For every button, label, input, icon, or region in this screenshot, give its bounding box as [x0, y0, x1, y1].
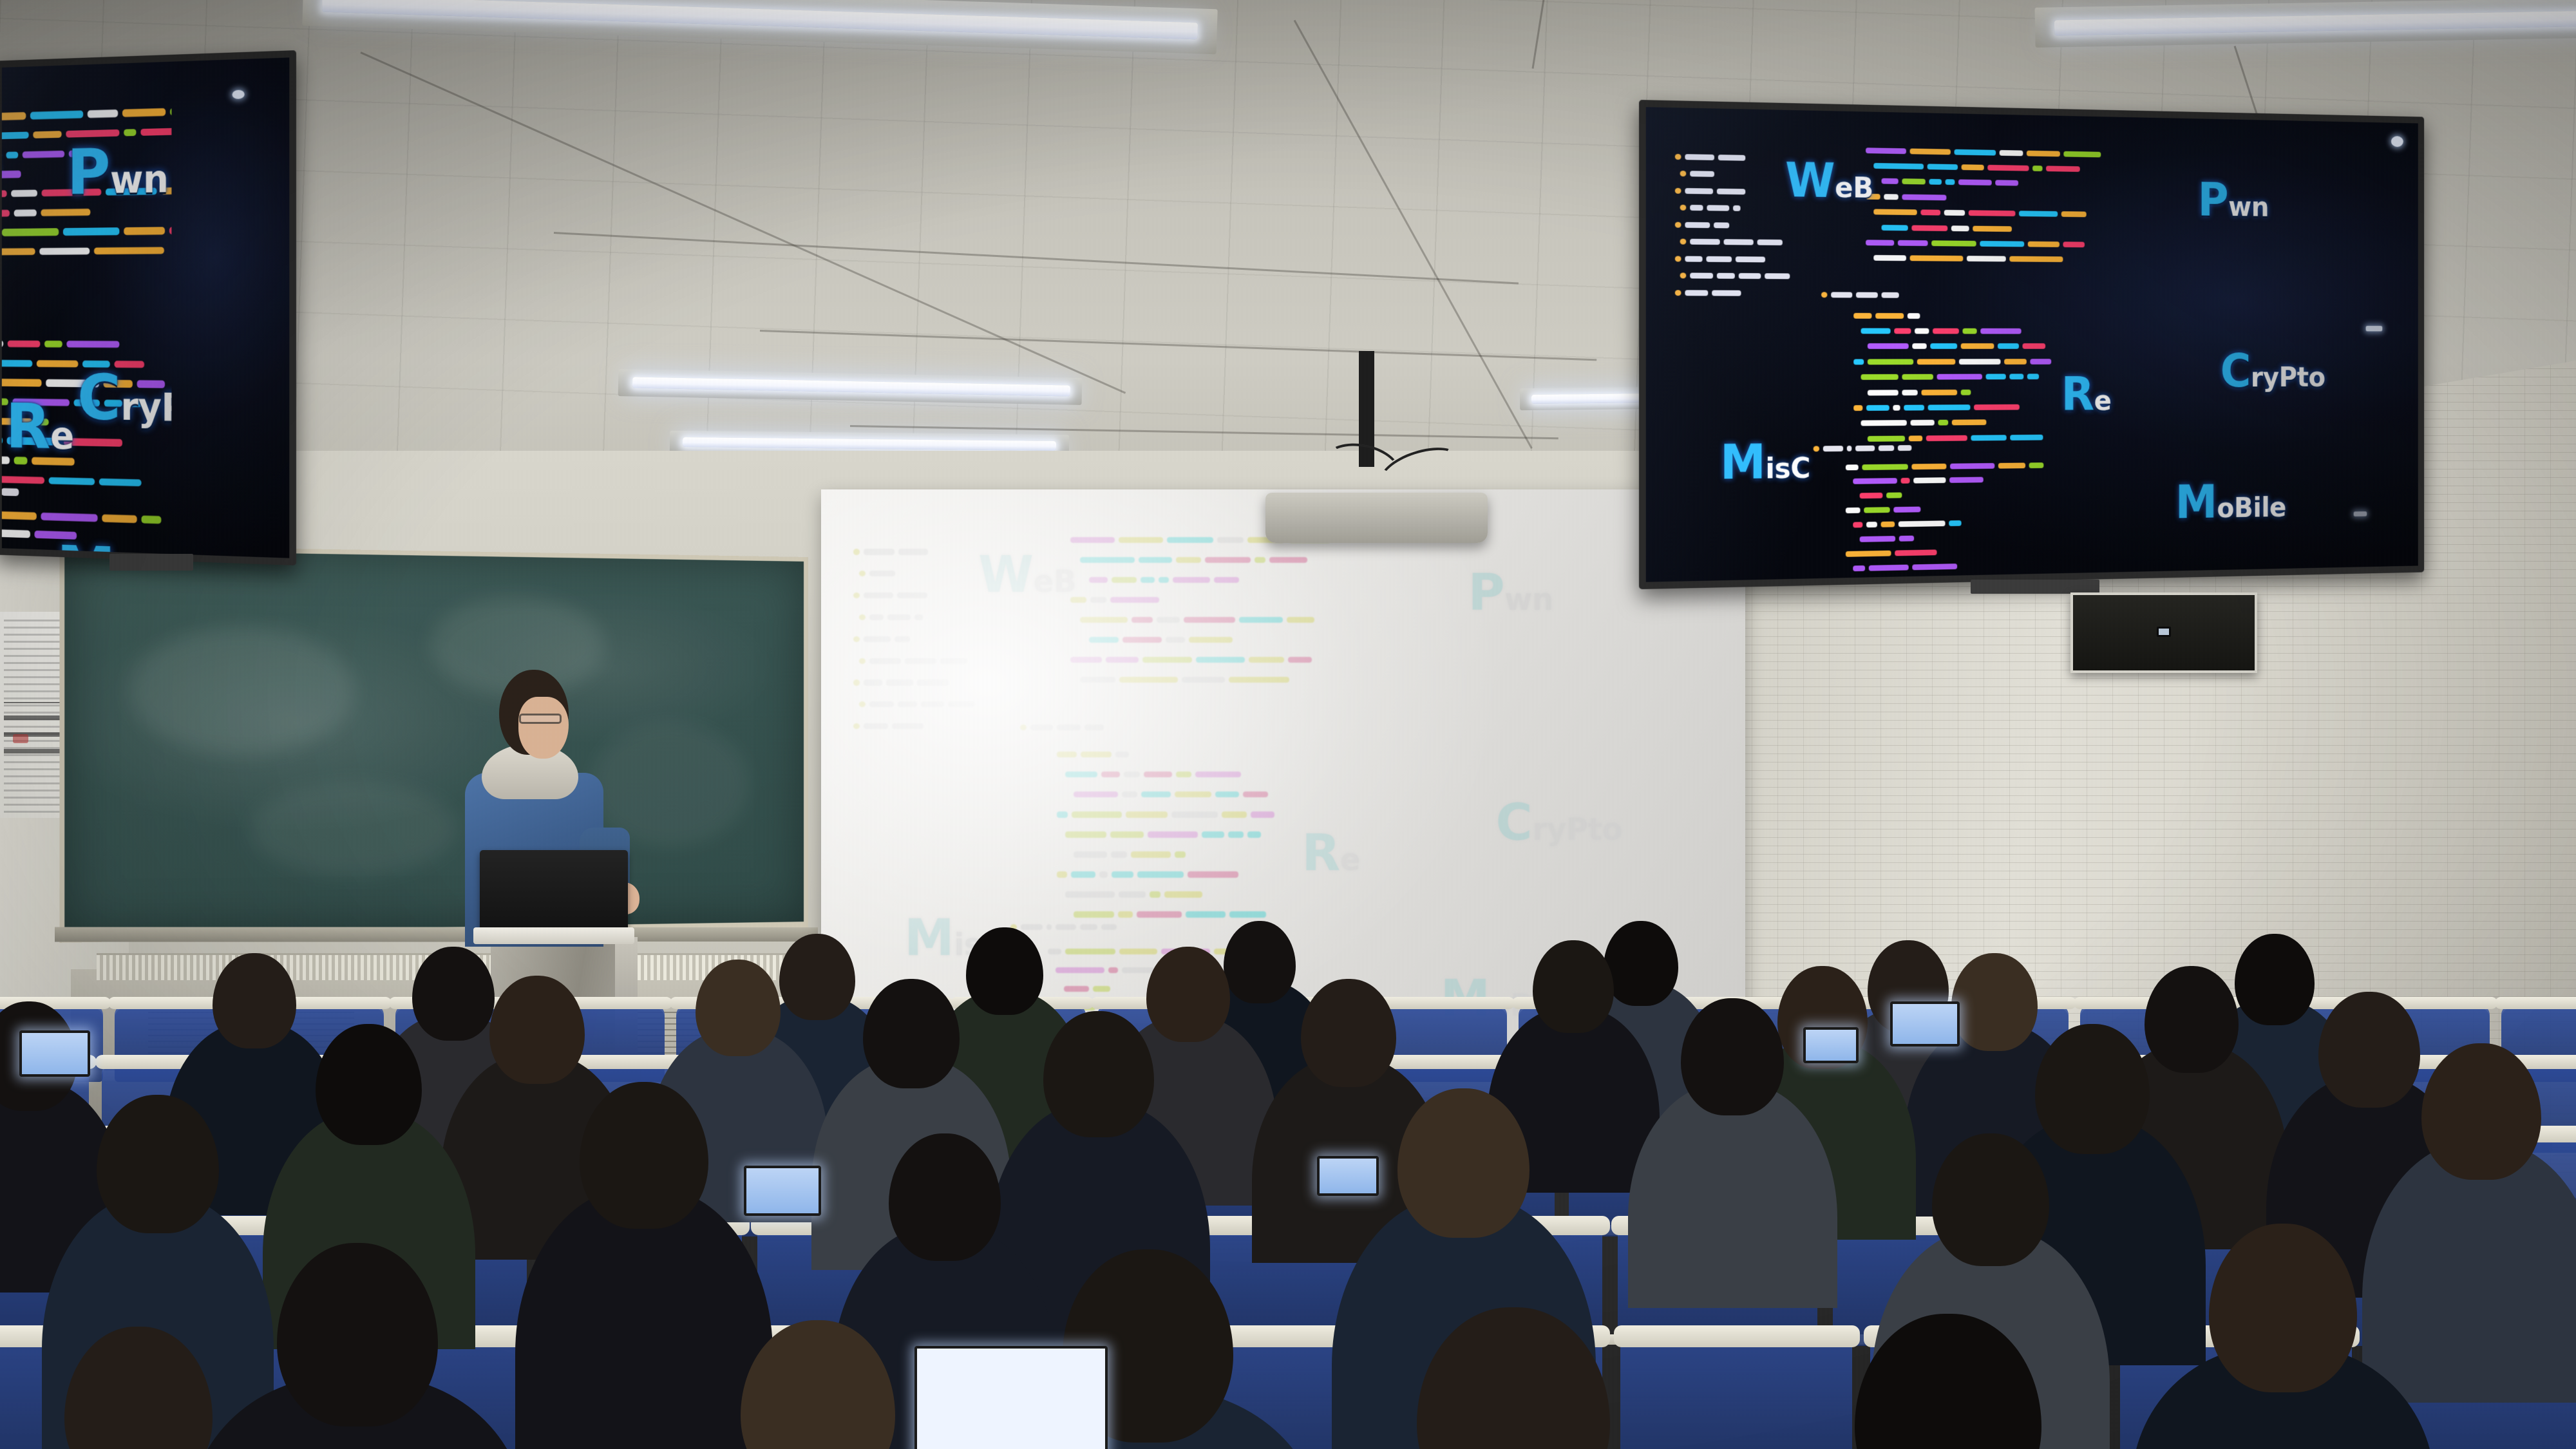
- slide-code-token: [1847, 446, 1852, 451]
- slide-code-token: [2027, 150, 2060, 156]
- slide-code-token: [1080, 557, 1135, 563]
- chalk-smudge: [250, 782, 457, 877]
- slide-code-line: [1853, 520, 1962, 529]
- slide-code-token: [917, 679, 948, 685]
- slide-code-token: [1950, 463, 1994, 469]
- slide-code-line: [1853, 477, 1984, 486]
- audience-head: [966, 927, 1043, 1015]
- slide-code-token: [170, 107, 171, 115]
- slide-code-token: [1084, 724, 1104, 730]
- slide-code-token: [2031, 359, 2052, 365]
- slide-code-token: [1757, 240, 1782, 245]
- audience-head: [1043, 1011, 1154, 1137]
- slide-code-token: [1132, 617, 1153, 623]
- slide-code-token: [1065, 831, 1106, 837]
- slide-code-token: [859, 701, 866, 707]
- audience-head: [580, 1082, 708, 1229]
- slide-code-token: [905, 658, 936, 664]
- slide-code-token: [1893, 405, 1900, 411]
- slide-code-token: [1866, 405, 1889, 411]
- slide-code-token: [1962, 328, 1976, 334]
- slide-code-token: [1889, 578, 1933, 582]
- slide-code-token: [1895, 549, 1937, 556]
- slide-code-token: [1866, 240, 1894, 245]
- slide-tv-left: WeBPwnReCryPtoMisCMoBile: [2, 62, 171, 558]
- audience-head: [277, 1243, 438, 1426]
- slide-code-line: [2, 105, 171, 123]
- slide-code-token: [1119, 537, 1163, 543]
- slide-code-line: [1881, 223, 2012, 232]
- slide-code-line: [1057, 810, 1274, 819]
- slide-code-token: [1690, 273, 1713, 279]
- slide-code-token: [1070, 537, 1115, 543]
- presenter-laptop[interactable]: [480, 850, 628, 934]
- slide-code-line: [1680, 204, 1740, 213]
- slide-code-token: [1119, 891, 1145, 897]
- slide-code-token: [1287, 617, 1314, 623]
- slide-code-token: [1898, 240, 1928, 246]
- slide-code-token: [1131, 851, 1171, 857]
- slide-code-line: [1853, 312, 1920, 319]
- slide-code-token: [1927, 164, 1958, 170]
- slide-code-token: [1217, 537, 1244, 543]
- slide-code-token: [1159, 577, 1169, 583]
- slide-code-token: [1215, 791, 1239, 797]
- slide-code-token: [1144, 772, 1172, 777]
- slide-category-re: Re: [6, 396, 74, 459]
- slide-code-token: [1912, 343, 1926, 349]
- slide-code-token: [1995, 180, 2018, 186]
- slide-code-token: [1718, 155, 1746, 161]
- slide-code-token: [1108, 967, 1118, 973]
- slide-code-token: [1938, 420, 1948, 426]
- slide-code-line: [1074, 909, 1266, 919]
- slide-code-token: [11, 189, 37, 197]
- slide-code-token: [1675, 290, 1681, 296]
- seat-armrest: [2495, 997, 2576, 1009]
- slide-code-token: [869, 614, 884, 620]
- slide-code-token: [1853, 478, 1898, 485]
- slide-code-token: [1188, 871, 1238, 877]
- slide-code-token: [44, 341, 62, 348]
- slide-code-token: [887, 614, 911, 620]
- slide-code-token: [1065, 949, 1115, 954]
- slide-code-line: [1868, 343, 2045, 350]
- slide-category-re: Re: [1302, 828, 1360, 878]
- slide-code-token: [1099, 871, 1107, 877]
- slide-code-token: [1902, 374, 1933, 380]
- slide-code-line: [1675, 153, 1746, 162]
- slide-code-token: [864, 592, 893, 598]
- slide-code-token: [1148, 831, 1198, 837]
- slide-code-token: [1846, 507, 1861, 513]
- slide-code-token: [1202, 831, 1224, 837]
- slide-code-token: [1958, 180, 1992, 186]
- slide-code-token: [2019, 211, 2058, 216]
- slide-code-token: [1962, 164, 1984, 170]
- slide-code-line: [1814, 444, 1912, 453]
- slide-code-line: [1860, 535, 1914, 543]
- slide-code-token: [859, 571, 866, 576]
- slide-code-line: [1853, 562, 1957, 572]
- slide-code-token: [124, 129, 137, 137]
- slide-code-token: [1853, 405, 1862, 411]
- slide-code-token: [1112, 577, 1137, 583]
- slide-code-token: [1881, 178, 1899, 184]
- slide-code-token: [1949, 520, 1961, 526]
- slide-code-token: [1902, 179, 1925, 185]
- slide-code-line: [1821, 290, 1899, 298]
- slide-code-token: [1879, 445, 1894, 451]
- slide-code-token: [1122, 791, 1138, 797]
- slide-code-token: [1205, 557, 1251, 563]
- slide-code-token: [1823, 446, 1843, 451]
- chalkboard: [59, 545, 808, 943]
- slide-code-token: [1164, 891, 1202, 897]
- audience-head: [2145, 966, 2239, 1073]
- audience-head: [1951, 953, 2038, 1051]
- slide-code-token: [1247, 831, 1260, 837]
- slide-code-token: [1961, 343, 1994, 349]
- slide-code-line: [1680, 272, 1790, 280]
- slide-code-token: [1141, 791, 1171, 797]
- slide-code-token: [1081, 752, 1112, 757]
- slide-code-token: [1945, 180, 1955, 185]
- slide-code-token: [1961, 389, 1971, 395]
- slide-code-token: [1101, 772, 1120, 777]
- seat-armrest: [1614, 1325, 1860, 1347]
- slide-code-token: [2029, 462, 2044, 468]
- audience-tablet-screen[interactable]: [1890, 1001, 1960, 1046]
- slide-code-line: [2, 484, 19, 497]
- slide-code-token: [1986, 374, 2006, 380]
- slide-code-token: [869, 701, 894, 707]
- slide-code-line: [1846, 506, 1921, 514]
- slide-code-line: [1675, 255, 1765, 263]
- slide-code-token: [853, 723, 860, 729]
- slide-code-token: [1974, 404, 2020, 410]
- slide-code-token: [1881, 292, 1899, 298]
- slide-code-token: [2, 529, 30, 538]
- slide-code-token: [1115, 752, 1129, 757]
- slide-code-token: [88, 109, 118, 118]
- category-suffix: wn: [2228, 191, 2269, 223]
- slide-code-line: [1866, 193, 1947, 201]
- category-initial: P: [2198, 174, 2229, 227]
- slide-code-line: [1057, 750, 1129, 759]
- slide-code-token: [1707, 205, 1730, 211]
- slide-code-token: [1110, 831, 1144, 837]
- slide-code-token: [1111, 851, 1128, 857]
- slide-code-token: [1855, 446, 1875, 451]
- audience-head: [2318, 992, 2420, 1108]
- slide-code-token: [1090, 597, 1106, 603]
- slide-code-token: [1886, 493, 1902, 498]
- slide-code-line: [1074, 849, 1186, 859]
- slide-code-token: [898, 701, 917, 707]
- category-initial: M: [2175, 476, 2217, 529]
- slide-code-token: [2046, 166, 2080, 172]
- slide-code-token: [1176, 557, 1200, 563]
- tv-left-highlight: [232, 90, 245, 99]
- audience-head: [1301, 979, 1396, 1087]
- slide-code-line: [1089, 635, 1233, 645]
- category-initial: C: [1496, 794, 1533, 852]
- slide-code-token: [1675, 222, 1681, 227]
- slide-code-line: [1080, 675, 1289, 685]
- slide-code-token: [1901, 478, 1910, 484]
- slide-code-token: [1862, 464, 1908, 470]
- slide-code-line: [1089, 575, 1239, 585]
- slide-code-token: [1881, 225, 1908, 231]
- slide-code-token: [169, 227, 171, 234]
- slide-code-line: [1873, 162, 2080, 173]
- slide-code-token: [1930, 343, 1957, 349]
- slide-code-token: [1959, 359, 2001, 365]
- audience-laptop-screen[interactable]: [1317, 1156, 1379, 1196]
- slide-code-token: [2, 229, 59, 236]
- slide-code-token: [1680, 171, 1686, 176]
- slide-code-token: [1853, 313, 1872, 319]
- slide-code-token: [1846, 551, 1891, 557]
- audience-head: [696, 960, 781, 1056]
- slide-code-token: [1071, 871, 1096, 877]
- slide-code-line: [1853, 403, 2020, 412]
- slide-code-token: [1176, 772, 1191, 777]
- seat-back[interactable]: [1620, 1333, 1852, 1449]
- slide-code-token: [2, 437, 3, 444]
- slide-code-token: [2009, 256, 2063, 262]
- slide-code-token: [1980, 241, 2025, 247]
- audience-head: [1146, 947, 1230, 1042]
- poster-stamp: [13, 734, 28, 743]
- slide-code-token: [1186, 911, 1225, 917]
- slide-code-token: [1733, 205, 1741, 211]
- slide-code-token: [1909, 435, 1922, 441]
- slide-code-token: [1251, 811, 1274, 817]
- category-suffix: wn: [1504, 583, 1553, 618]
- slide-code-token: [1074, 911, 1114, 917]
- slide-code-token: [1897, 445, 1911, 451]
- slide-code-token: [1675, 153, 1681, 159]
- slide-code-token: [948, 701, 975, 707]
- audience-head: [779, 934, 855, 1020]
- slide-code-token: [864, 723, 887, 729]
- slide-code-line: [1873, 208, 2087, 218]
- slide-code-token: [1875, 313, 1904, 319]
- slide-code-line: [1680, 238, 1782, 247]
- slide-code-token: [1229, 677, 1289, 683]
- slide-code-token: [921, 701, 945, 707]
- audience-laptop-screen[interactable]: [914, 1346, 1108, 1449]
- slide-code-line: [1860, 491, 1902, 499]
- slide-code-token: [1909, 148, 1950, 155]
- slide-code-token: [93, 247, 164, 254]
- audience-phone-screen[interactable]: [1803, 1027, 1859, 1063]
- audience-laptop-screen[interactable]: [19, 1030, 90, 1077]
- slide-code-token: [1021, 924, 1043, 930]
- category-suffix: eB: [1033, 565, 1075, 600]
- slide-code-line: [1675, 289, 1741, 297]
- slide-category-pwn: Pwn: [1468, 568, 1553, 618]
- slide-code-line: [1065, 889, 1202, 899]
- slide-code-line: [1080, 615, 1315, 625]
- slide-code-line: [2, 169, 21, 181]
- slide-code-token: [1074, 791, 1118, 797]
- slide-code-token: [1239, 617, 1283, 623]
- slide-code-token: [1861, 328, 1890, 334]
- slide-code-token: [2, 131, 29, 140]
- slide-code-token: [1899, 536, 1914, 542]
- slide-code-token: [1089, 577, 1108, 583]
- slide-code-token: [859, 614, 866, 620]
- category-initial: R: [2061, 368, 2094, 422]
- presenter-face: [518, 697, 569, 759]
- audience-head: [213, 953, 296, 1048]
- slide-code-line: [1070, 655, 1312, 665]
- slide-code-line: [1675, 187, 1746, 195]
- slide-code-token: [2000, 150, 2023, 156]
- tv-right[interactable]: WeBPwnReCryPtoMisCMoBile: [1639, 100, 2424, 589]
- slide-code-line: [853, 677, 948, 687]
- slide-code-token: [1195, 772, 1241, 777]
- slide-code-token: [1856, 292, 1878, 298]
- audience-head: [1533, 940, 1614, 1033]
- slide-code-line: [1064, 984, 1110, 994]
- slide-code-token: [1685, 222, 1710, 228]
- slide-code-line: [859, 699, 975, 709]
- slide-code-token: [142, 516, 162, 524]
- slide-code-token: [1717, 188, 1746, 194]
- slide-code-token: [1873, 209, 1917, 216]
- slide-code-token: [1914, 478, 1946, 484]
- slide-code-token: [1064, 986, 1089, 992]
- slide-code-token: [1122, 637, 1162, 643]
- slide-code-token: [1110, 597, 1159, 603]
- category-initial: P: [67, 136, 110, 209]
- category-initial: W: [1785, 153, 1835, 209]
- slide-code-token: [1921, 389, 1957, 395]
- slide-code-token: [1968, 210, 2015, 216]
- ceiling-projector: [1265, 493, 1488, 543]
- slide-code-line: [1070, 595, 1159, 605]
- slide-code-token: [1048, 949, 1062, 954]
- slide-code-token: [1196, 657, 1245, 663]
- category-initial: R: [6, 391, 50, 464]
- slide-code-token: [1675, 187, 1681, 193]
- slide-code-line: [1074, 790, 1268, 799]
- seat-armrest: [1372, 997, 1515, 1009]
- slide-code-token: [1717, 273, 1735, 279]
- category-initial: M: [1720, 435, 1765, 490]
- slide-code-token: [1937, 374, 1982, 380]
- slide-code-token: [897, 592, 927, 598]
- slide-code-token: [2027, 374, 2039, 379]
- slide-code-token: [1124, 772, 1139, 777]
- slide-code-token: [1065, 772, 1097, 777]
- slide-code-token: [2, 190, 7, 198]
- slide-code-line: [1057, 869, 1238, 879]
- presenter-glasses: [519, 714, 562, 724]
- slide-code-token: [140, 128, 171, 136]
- slide-code-token: [1929, 179, 1942, 185]
- slide-code-token: [1998, 462, 2025, 468]
- slide-code-token: [864, 549, 895, 554]
- slide-code-line: [1680, 170, 1714, 178]
- slide-code-token: [66, 341, 119, 348]
- slide-code-token: [1846, 464, 1859, 470]
- slide-code-token: [1680, 205, 1686, 211]
- slide-code-token: [1685, 188, 1713, 194]
- slide-code-token: [1933, 328, 1958, 334]
- slide-code-token: [22, 150, 64, 158]
- slide-code-token: [2063, 241, 2085, 247]
- slide-code-token: [1269, 557, 1307, 563]
- tv-left-mount: [109, 554, 193, 571]
- slide-code-token: [1175, 851, 1186, 857]
- slide-code-token: [1690, 171, 1714, 177]
- slide-code-token: [1214, 577, 1239, 583]
- slide-code-area: [1646, 107, 2418, 582]
- category-initial: P: [1468, 564, 1505, 622]
- slide-code-token: [2, 511, 37, 520]
- audience-laptop-screen[interactable]: [744, 1166, 821, 1216]
- category-suffix: eB: [1835, 172, 1873, 205]
- slide-code-token: [1908, 313, 1920, 319]
- slide-code-token: [1736, 256, 1765, 262]
- slide-code-token: [41, 209, 90, 216]
- slide-category-pwn: Pwn: [67, 140, 168, 205]
- slide-code-token: [1072, 811, 1122, 817]
- lecture-hall-photo: WeBPwnReCryPtoMisCMoBile WeBPwnReCryPtoM…: [0, 0, 2576, 1449]
- slide-code-token: [853, 592, 860, 598]
- slide-code-token: [1910, 256, 1964, 261]
- category-suffix: ryPto: [2251, 363, 2325, 393]
- slide-code-line: [853, 547, 927, 556]
- slide-code-token: [1739, 273, 1761, 279]
- slide-code-token: [102, 515, 137, 523]
- slide-category-misc: MisC: [1720, 438, 1810, 486]
- slide-code-token: [49, 477, 95, 486]
- slide-code-token: [1967, 256, 2006, 261]
- slide-code-line: [853, 591, 927, 600]
- slide-code-token: [1952, 419, 1986, 425]
- slide-code-token: [99, 478, 142, 487]
- tv-left[interactable]: WeBPwnReCryPtoMisCMoBile: [0, 50, 296, 565]
- slide-code-token: [1712, 290, 1741, 296]
- slide-code-token: [1917, 359, 1956, 365]
- tv-right-mount: [1971, 580, 2099, 594]
- slide-tv-right: WeBPwnReCryPtoMisCMoBile: [1646, 107, 2418, 582]
- slide-code-token: [2, 379, 41, 386]
- slide-code-token: [853, 549, 860, 554]
- slide-code-line: [1846, 549, 1937, 558]
- slide-code-token: [940, 658, 967, 664]
- category-initial: W: [978, 546, 1034, 604]
- slide-code-token: [898, 549, 927, 554]
- slide-category-re: Re: [2061, 372, 2111, 417]
- slide-code-line: [859, 569, 895, 578]
- slide-code-token: [1189, 637, 1233, 643]
- audience-head: [1681, 998, 1784, 1115]
- slide-code-token: [2, 340, 3, 347]
- slide-code-line: [1881, 178, 2018, 187]
- slide-code-token: [122, 108, 166, 117]
- slide-code-line: [2, 507, 161, 525]
- tv-right-reflection: [2366, 326, 2383, 331]
- audience-head: [489, 976, 585, 1084]
- slide-code-token: [1685, 154, 1714, 160]
